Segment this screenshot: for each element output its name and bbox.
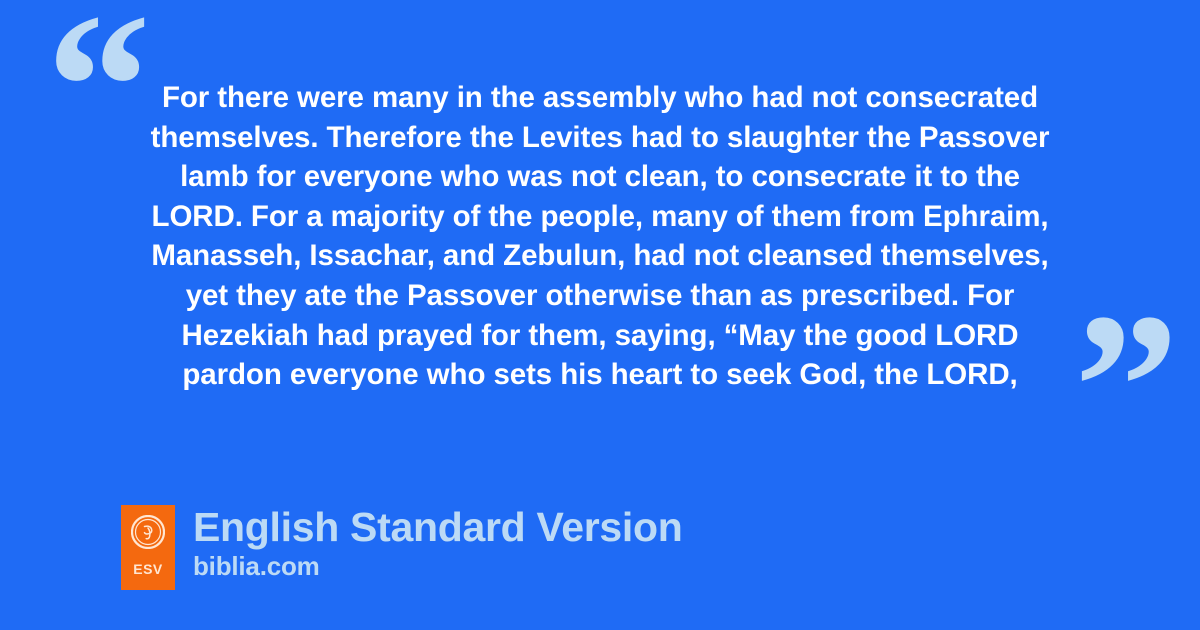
quote-card: “ For there were many in the assembly wh… xyxy=(0,0,1200,630)
site-url-label[interactable]: biblia.com xyxy=(193,551,682,581)
quote-line: LORD. For a majority of the people, many… xyxy=(110,197,1090,237)
footer-text-group: English Standard Version biblia.com xyxy=(193,505,682,581)
quote-line: Hezekiah had prayed for them, saying, “M… xyxy=(110,316,1090,356)
quote-line: Manasseh, Issachar, and Zebulun, had not… xyxy=(110,236,1090,276)
footer-attribution: ESV English Standard Version biblia.com xyxy=(121,505,682,590)
esv-logo-badge: ESV xyxy=(121,505,175,590)
quote-line: pardon everyone who sets his heart to se… xyxy=(110,355,1090,395)
bible-version-name: English Standard Version xyxy=(193,505,682,549)
esv-seal-icon xyxy=(131,515,165,549)
quote-line: lamb for everyone who was not clean, to … xyxy=(110,157,1090,197)
quote-line: For there were many in the assembly who … xyxy=(110,78,1090,118)
quote-text-block: For there were many in the assembly who … xyxy=(110,78,1090,395)
quote-line: yet they ate the Passover otherwise than… xyxy=(110,276,1090,316)
quote-line: themselves. Therefore the Levites had to… xyxy=(110,118,1090,158)
closing-quote-icon: ” xyxy=(1074,282,1177,492)
esv-abbreviation: ESV xyxy=(121,562,175,576)
